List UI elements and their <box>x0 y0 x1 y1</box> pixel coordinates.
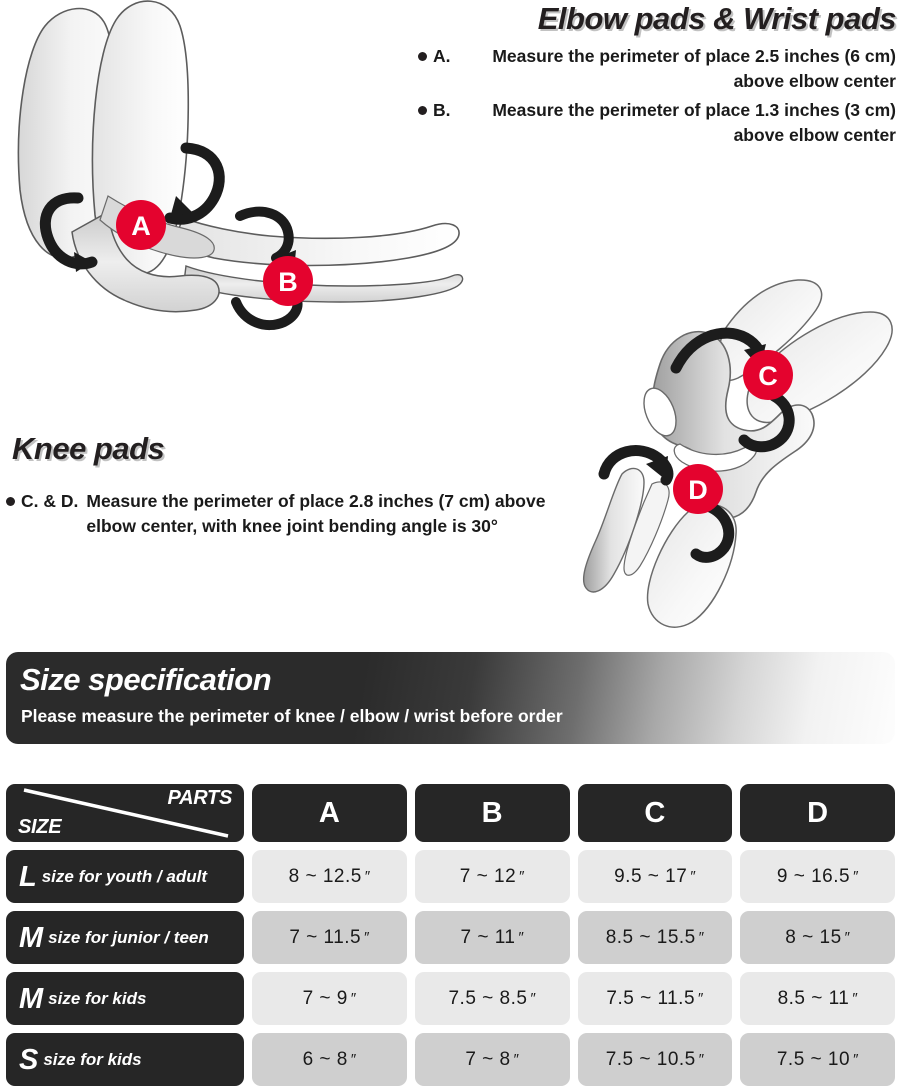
table-header-row: PARTS SIZE A B C D <box>6 784 895 842</box>
knee-diagram: C D <box>548 278 901 630</box>
marker-d-letter: D <box>688 475 708 505</box>
size-table: PARTS SIZE A B C D L size for youth / ad… <box>6 784 895 1086</box>
row-size-label: S size for kids <box>6 1033 244 1086</box>
row-size-label: M size for kids <box>6 972 244 1025</box>
elbow-instruction-list: A. Measure the perimeter of place 2.5 in… <box>418 44 896 152</box>
column-header-b: B <box>415 784 570 842</box>
list-item-text: Measure the perimeter of place 2.8 inche… <box>86 489 546 539</box>
bullet-dot-icon <box>418 52 427 61</box>
size-letter: L <box>19 862 37 892</box>
marker-c-letter: C <box>758 361 778 391</box>
table-row: M size for kids 7 ~ 9″ 7.5 ~ 8.5″ 7.5 ~ … <box>6 972 895 1025</box>
corner-parts-label: PARTS <box>168 787 232 810</box>
cell-b: 7 ~ 11″ <box>415 911 570 964</box>
size-letter: M <box>19 923 43 953</box>
cell-d: 8 ~ 15″ <box>740 911 895 964</box>
cell-d: 7.5 ~ 10″ <box>740 1033 895 1086</box>
cell-c: 7.5 ~ 10.5″ <box>578 1033 733 1086</box>
marker-c: C <box>743 350 793 400</box>
marker-a-letter: A <box>131 211 151 241</box>
column-header-c: C <box>578 784 733 842</box>
list-item-text: Measure the perimeter of place 2.5 inche… <box>459 44 897 94</box>
table-row: M size for junior / teen 7 ~ 11.5″ 7 ~ 1… <box>6 911 895 964</box>
knee-instruction-list: C. & D. Measure the perimeter of place 2… <box>6 489 546 539</box>
cell-c: 7.5 ~ 11.5″ <box>578 972 733 1025</box>
cell-a: 7 ~ 11.5″ <box>252 911 407 964</box>
column-header-d: D <box>740 784 895 842</box>
elbow-diagram: A B <box>0 0 470 380</box>
corner-size-label: SIZE <box>18 816 61 839</box>
knee-section-title: Knee pads <box>12 432 164 466</box>
list-item: A. Measure the perimeter of place 2.5 in… <box>418 44 896 94</box>
size-description: size for kids <box>43 1050 141 1070</box>
marker-b-letter: B <box>278 267 298 297</box>
cell-c: 8.5 ~ 15.5″ <box>578 911 733 964</box>
size-description: size for kids <box>48 989 146 1009</box>
cell-c: 9.5 ~ 17″ <box>578 850 733 903</box>
list-item-text: Measure the perimeter of place 1.3 inche… <box>459 98 897 148</box>
size-specification-banner: Size specification Please measure the pe… <box>6 652 895 744</box>
cell-b: 7.5 ~ 8.5″ <box>415 972 570 1025</box>
cell-b: 7 ~ 8″ <box>415 1033 570 1086</box>
cell-a: 6 ~ 8″ <box>252 1033 407 1086</box>
marker-b: B <box>263 256 313 306</box>
cell-d: 9 ~ 16.5″ <box>740 850 895 903</box>
marker-a: A <box>116 200 166 250</box>
bullet-dot-icon <box>6 497 15 506</box>
cell-d: 8.5 ~ 11″ <box>740 972 895 1025</box>
list-item: C. & D. Measure the perimeter of place 2… <box>6 489 546 539</box>
column-header-a: A <box>252 784 407 842</box>
table-row: S size for kids 6 ~ 8″ 7 ~ 8″ 7.5 ~ 10.5… <box>6 1033 895 1086</box>
size-letter: M <box>19 984 43 1014</box>
table-corner-cell: PARTS SIZE <box>6 784 244 842</box>
banner-title: Size specification <box>20 660 271 700</box>
banner-subtitle: Please measure the perimeter of knee / e… <box>21 704 563 728</box>
row-size-label: M size for junior / teen <box>6 911 244 964</box>
size-description: size for junior / teen <box>48 928 209 948</box>
cell-a: 7 ~ 9″ <box>252 972 407 1025</box>
cell-a: 8 ~ 12.5″ <box>252 850 407 903</box>
size-letter: S <box>19 1045 38 1075</box>
row-size-label: L size for youth / adult <box>6 850 244 903</box>
marker-d: D <box>673 464 723 514</box>
list-item-label: C. & D. <box>21 489 78 514</box>
list-item-label: B. <box>433 98 451 123</box>
cell-b: 7 ~ 12″ <box>415 850 570 903</box>
size-description: size for youth / adult <box>42 867 207 887</box>
list-item-label: A. <box>433 44 451 69</box>
bullet-dot-icon <box>418 106 427 115</box>
list-item: B. Measure the perimeter of place 1.3 in… <box>418 98 896 148</box>
table-row: L size for youth / adult 8 ~ 12.5″ 7 ~ 1… <box>6 850 895 903</box>
elbow-section-title: Elbow pads & Wrist pads <box>476 2 896 36</box>
